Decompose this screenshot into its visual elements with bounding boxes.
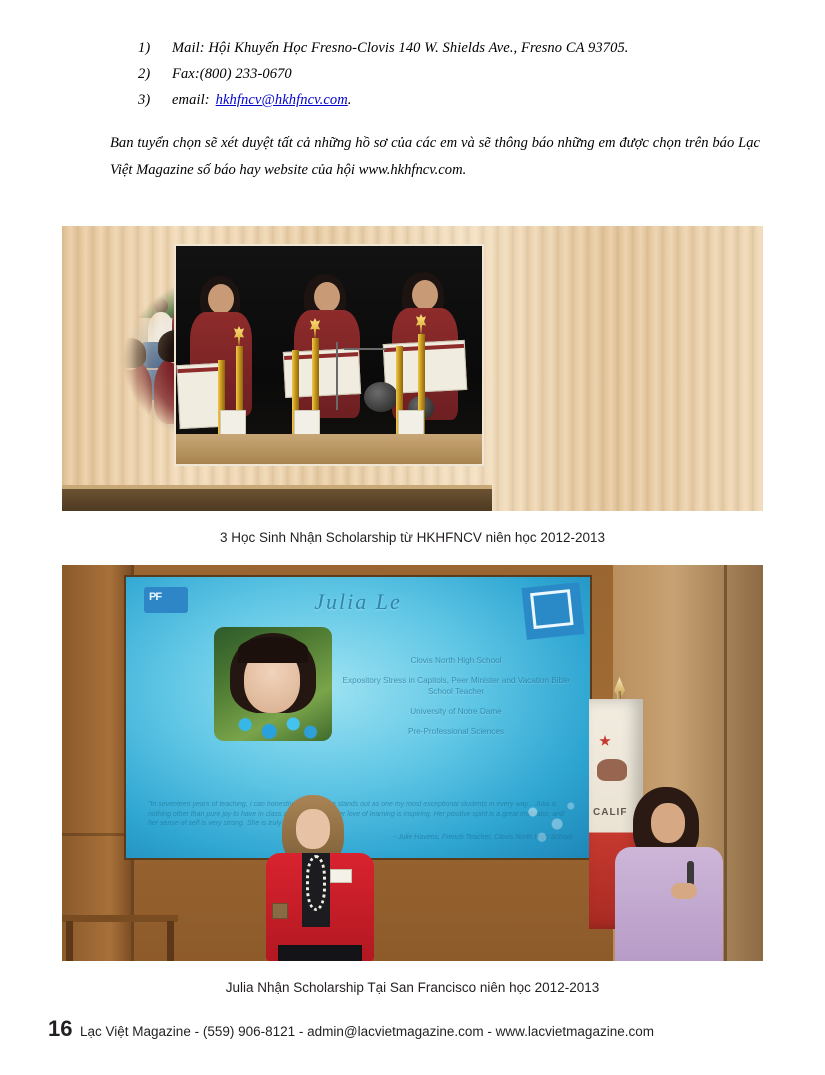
email-link[interactable]: hkhfncv@hkhfncv.com (216, 92, 348, 109)
list-item-period: . (348, 92, 352, 109)
list-item: 3) email: hkhfncv@hkhfncv.com . (138, 92, 788, 109)
speaker-with-microphone (609, 787, 727, 961)
slide-line: Expository Stress in Capitols, Peer Mini… (331, 675, 581, 697)
page-footer: 16 Lạc Việt Magazine - (559) 906-8121 - … (0, 1012, 825, 1052)
list-item-number: 2) (138, 66, 172, 83)
pearl-necklace (306, 855, 326, 911)
list-item-text: Mail: Hội Khuyến Học Fresno-Clovis 140 W… (172, 40, 629, 57)
photo-award-ceremony-stage (174, 244, 484, 466)
list-item-number: 1) (138, 40, 172, 57)
magazine-page: 1) Mail: Hội Khuyến Học Fresno-Clovis 14… (0, 0, 825, 1075)
list-item: 2) Fax:(800) 233-0670 (138, 66, 788, 83)
slide-line: Pre-Professional Sciences (331, 726, 581, 737)
slide-text-block: Clovis North High School Expository Stre… (331, 655, 581, 746)
list-item-number: 3) (138, 92, 172, 109)
floor-band (62, 489, 492, 511)
list-item: 1) Mail: Hội Khuyến Học Fresno-Clovis 14… (138, 40, 788, 57)
presenter-red-blazer (260, 795, 380, 961)
photo-scholarship-recipients (62, 226, 763, 511)
photo-caption-1: 3 Học Sinh Nhận Scholarship từ HKHFNCV n… (0, 530, 825, 545)
contact-list: 1) Mail: Hội Khuyến Học Fresno-Clovis 14… (138, 40, 788, 118)
name-badge (330, 869, 352, 883)
slide-portrait-photo (214, 627, 332, 741)
slide-line: University of Notre Dame (331, 706, 581, 717)
photo-caption-2: Julia Nhận Scholarship Tại San Francisco… (0, 980, 825, 995)
photo-julia-presentation: PF Julia Le Clovis North High School Exp… (62, 565, 763, 961)
body-paragraph: Ban tuyển chọn sẽ xét duyệt tất cả những… (110, 130, 760, 184)
list-item-text: Fax:(800) 233-0670 (172, 66, 292, 83)
side-table (62, 915, 178, 961)
slide-line: Clovis North High School (331, 655, 581, 666)
page-number: 16 (48, 1016, 72, 1042)
list-item-text: email: (172, 92, 210, 109)
slide-title: Julia Le (126, 589, 590, 615)
slide-snowflake-decoration (510, 794, 586, 854)
footer-contact-text: Lạc Việt Magazine - (559) 906-8121 - adm… (80, 1024, 654, 1039)
wall-outlet (272, 903, 288, 919)
